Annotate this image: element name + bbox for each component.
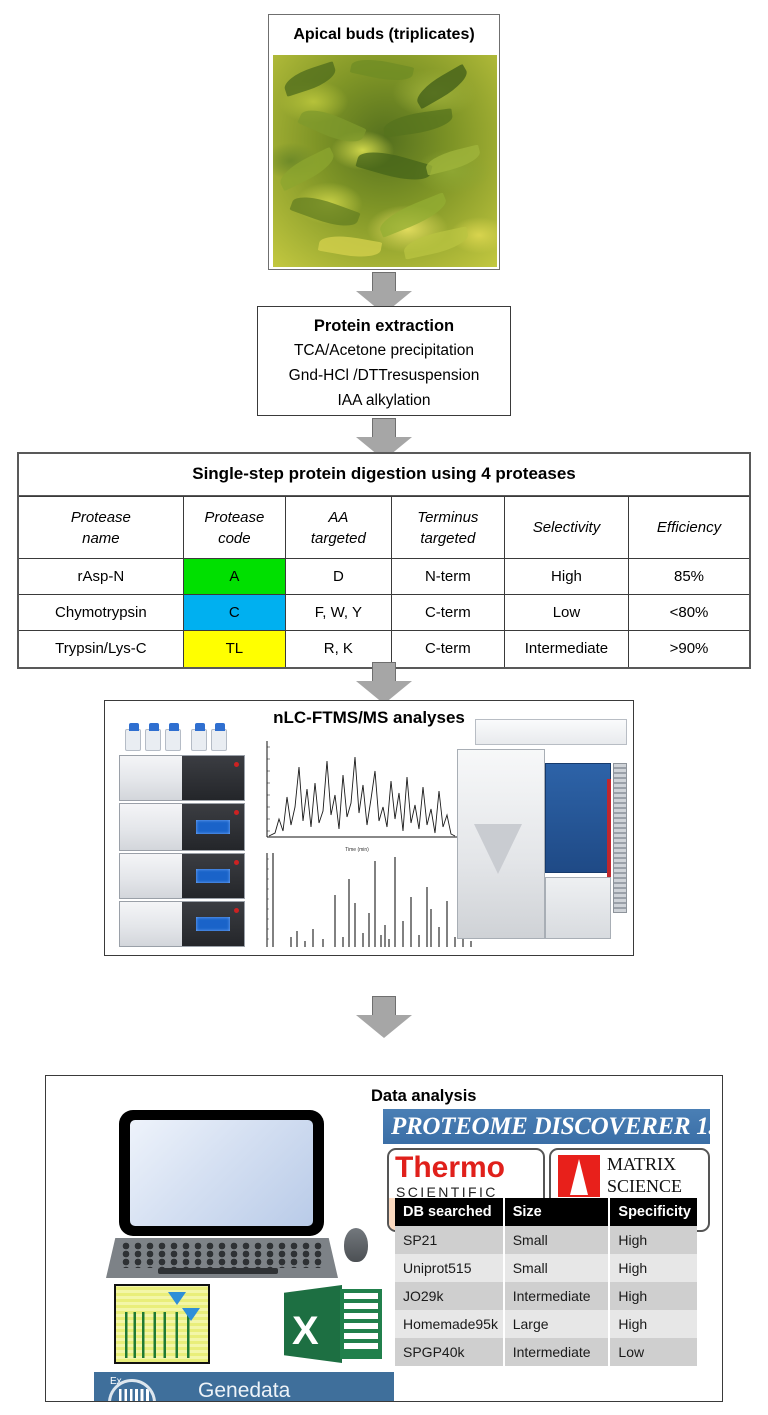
db-name-cell: SP21 (395, 1226, 504, 1254)
matrix-line-2: SCIENCE (607, 1176, 682, 1197)
mass-spectrum-trace (253, 851, 481, 953)
protease-code-cell: A (183, 559, 285, 595)
apical-buds-photo (273, 55, 497, 267)
thermo-wordmark: Thermo (395, 1151, 505, 1185)
aa-cell: F, W, Y (285, 595, 391, 631)
matrix-science-peak-icon (558, 1155, 600, 1197)
data-analysis-title: Data analysis (371, 1087, 476, 1106)
nano-lc-instrument (117, 721, 247, 949)
protein-extraction-line-1: TCA/Acetone precipitation (258, 338, 510, 363)
db-col-size: Size (504, 1198, 610, 1226)
db-size-cell: Intermediate (504, 1338, 610, 1366)
step-protein-extraction: Protein extraction TCA/Acetone precipita… (257, 306, 511, 416)
excel-icon: X (284, 1281, 382, 1367)
table-row: SP21 Small High (395, 1226, 697, 1254)
col-protease-name: Protease name (19, 497, 183, 559)
table-row: JO29k Intermediate High (395, 1282, 697, 1310)
protease-name-cell: Trypsin/Lys-C (19, 631, 183, 667)
db-name-cell: SPGP40k (395, 1338, 504, 1366)
matrix-line-1: MATRIX (607, 1154, 676, 1175)
step-lcms-analyses: nLC-FTMS/MS analyses Time (min) (104, 700, 634, 956)
raw-data-file-icon (114, 1284, 210, 1364)
selectivity-cell: Low (504, 595, 628, 631)
protease-code-cell: TL (183, 631, 285, 667)
protein-extraction-line-2: Gnd-HCl /DTTresuspension (258, 363, 510, 388)
workflow-figure: Apical buds (triplicates) Protein extrac… (0, 0, 768, 1415)
protease-name-cell: Chymotrypsin (19, 595, 183, 631)
terminus-cell: C-term (391, 595, 504, 631)
db-specificity-cell: High (609, 1254, 697, 1282)
mass-spectrometer-instrument (457, 719, 627, 945)
table-row: Uniprot515 Small High (395, 1254, 697, 1282)
db-specificity-cell: High (609, 1282, 697, 1310)
table-row: SPGP40k Intermediate Low (395, 1338, 697, 1366)
col-efficiency: Efficiency (629, 497, 749, 559)
col-selectivity: Selectivity (504, 497, 628, 559)
db-size-cell: Small (504, 1254, 610, 1282)
step-protein-digestion: Single-step protein digestion using 4 pr… (17, 452, 751, 669)
db-size-cell: Small (504, 1226, 610, 1254)
selectivity-cell: Intermediate (504, 631, 628, 667)
genedata-name-line-1: Genedata (198, 1379, 290, 1402)
protease-name-cell: rAsp-N (19, 559, 183, 595)
table-header-row: Protease name Protease code AA targeted … (19, 497, 749, 559)
laptop-icon (106, 1110, 336, 1280)
db-name-cell: Uniprot515 (395, 1254, 504, 1282)
efficiency-cell: <80% (629, 595, 749, 631)
db-name-cell: JO29k (395, 1282, 504, 1310)
efficiency-cell: >90% (629, 631, 749, 667)
col-aa-targeted: AA targeted (285, 497, 391, 559)
db-col-db-searched: DB searched (395, 1198, 504, 1226)
arrow-lcms-to-analysis (356, 996, 412, 1038)
db-col-specificity: Specificity (609, 1198, 697, 1226)
mouse-icon (344, 1228, 368, 1262)
db-specificity-cell: High (609, 1226, 697, 1254)
protein-extraction-line-3: IAA alkylation (258, 388, 510, 413)
protease-table: Protease name Protease code AA targeted … (19, 496, 749, 667)
aa-cell: D (285, 559, 391, 595)
digestion-title: Single-step protein digestion using 4 pr… (19, 454, 749, 496)
db-searched-table: DB searched Size Specificity SP21 Small … (395, 1198, 697, 1366)
efficiency-cell: 85% (629, 559, 749, 595)
chromatogram-trace: Time (min) (253, 737, 461, 855)
genedata-expressionist-logo: Ex Genedata Expressionist® (94, 1372, 394, 1402)
db-name-cell: Homemade95k (395, 1310, 504, 1338)
table-row: Chymotrypsin C F, W, Y C-term Low <80% (19, 595, 749, 631)
arrow-digestion-to-lcms (356, 662, 412, 704)
db-specificity-cell: High (609, 1310, 697, 1338)
col-terminus-targeted: Terminus targeted (391, 497, 504, 559)
excel-letter: X (292, 1309, 319, 1354)
db-header-row: DB searched Size Specificity (395, 1198, 697, 1226)
db-size-cell: Large (504, 1310, 610, 1338)
db-specificity-cell: Low (609, 1338, 697, 1366)
terminus-cell: N-term (391, 559, 504, 595)
apical-buds-title: Apical buds (triplicates) (269, 15, 499, 55)
table-row: Homemade95k Large High (395, 1310, 697, 1338)
table-row: rAsp-N A D N-term High 85% (19, 559, 749, 595)
protein-extraction-heading: Protein extraction (258, 314, 510, 338)
step-apical-buds: Apical buds (triplicates) (268, 14, 500, 270)
col-protease-code: Protease code (183, 497, 285, 559)
protease-code-cell: C (183, 595, 285, 631)
proteome-discoverer-banner: PROTEOME DISCOVERER 1.4 (383, 1109, 710, 1144)
db-size-cell: Intermediate (504, 1282, 610, 1310)
selectivity-cell: High (504, 559, 628, 595)
